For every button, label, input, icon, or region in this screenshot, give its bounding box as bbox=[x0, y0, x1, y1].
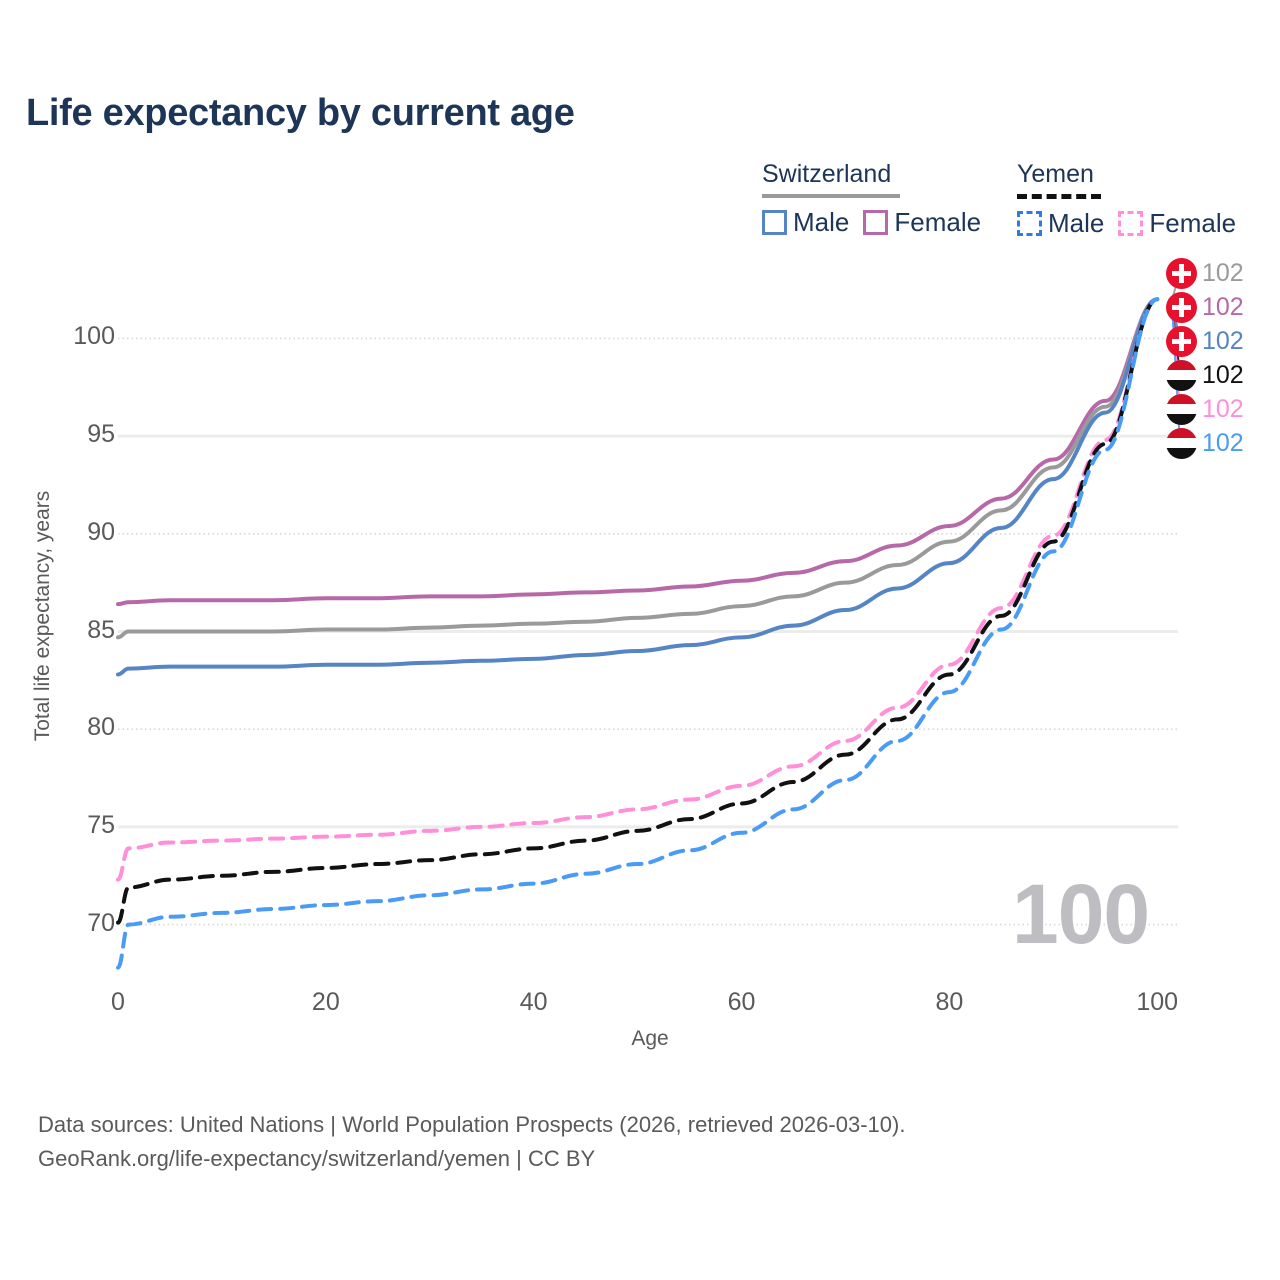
switzerland-flag-icon bbox=[1166, 258, 1197, 289]
yemen-flag-icon bbox=[1166, 394, 1197, 425]
plot-area: Total life expectancy, years Age 7075808… bbox=[0, 0, 1280, 1280]
series-end-label: 102 bbox=[1166, 426, 1280, 460]
yemen-flag-icon bbox=[1166, 360, 1197, 391]
series-end-label: 102 bbox=[1166, 392, 1280, 426]
series-line bbox=[118, 299, 1157, 637]
series-end-value: 102 bbox=[1202, 397, 1244, 422]
series-line bbox=[118, 299, 1157, 604]
switzerland-flag-icon bbox=[1166, 326, 1197, 357]
series-end-value: 102 bbox=[1202, 261, 1244, 286]
watermark: 100 bbox=[1012, 866, 1149, 963]
series-end-labels: 102102102102102102 bbox=[1166, 256, 1280, 460]
series-end-value: 102 bbox=[1202, 295, 1244, 320]
yemen-flag-icon bbox=[1166, 428, 1197, 459]
chart-canvas bbox=[0, 0, 1280, 1280]
series-end-label: 102 bbox=[1166, 290, 1280, 324]
series-end-label: 102 bbox=[1166, 358, 1280, 392]
series-end-label: 102 bbox=[1166, 324, 1280, 358]
series-line bbox=[118, 299, 1157, 922]
footer: Data sources: United Nations | World Pop… bbox=[38, 1108, 905, 1176]
switzerland-flag-icon bbox=[1166, 292, 1197, 323]
series-end-value: 102 bbox=[1202, 329, 1244, 354]
series-end-value: 102 bbox=[1202, 363, 1244, 388]
footer-line-attribution: GeoRank.org/life-expectancy/switzerland/… bbox=[38, 1142, 905, 1176]
series-end-value: 102 bbox=[1202, 431, 1244, 456]
series-end-label: 102 bbox=[1166, 256, 1280, 290]
footer-line-sources: Data sources: United Nations | World Pop… bbox=[38, 1108, 905, 1142]
